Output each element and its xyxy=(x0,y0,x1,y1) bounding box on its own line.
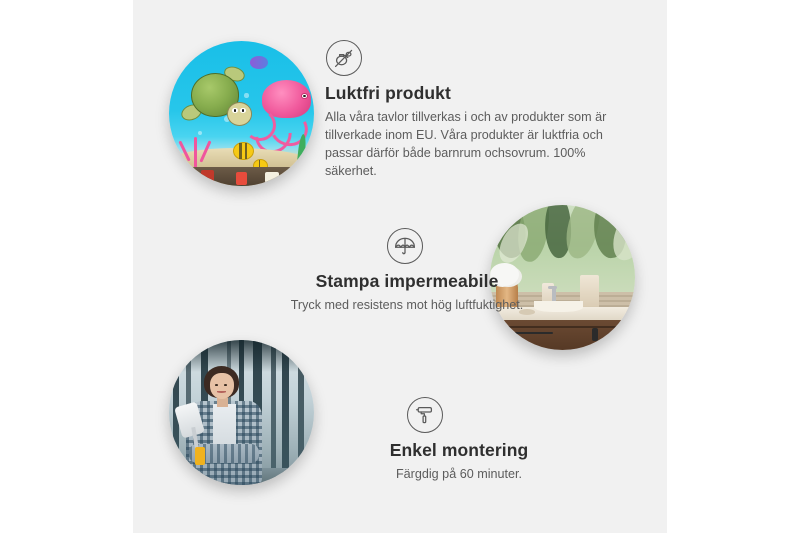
vanity-cabinet xyxy=(493,320,635,350)
paint-roller-icon xyxy=(407,397,443,433)
image-sea-scene[interactable] xyxy=(169,41,314,186)
yellow-fish xyxy=(233,142,254,160)
no-odour-icon xyxy=(326,40,362,76)
wreck-detail xyxy=(201,170,214,185)
feature-description: Tryck med resistens mot hög luftfuktighe… xyxy=(221,297,593,315)
icon-wrap xyxy=(325,397,593,433)
coral xyxy=(175,128,219,169)
woman-eye xyxy=(224,384,227,386)
icon-wrap xyxy=(221,228,593,264)
wreck-detail xyxy=(265,172,280,184)
octopus-eye xyxy=(301,93,308,99)
feature-waterproof: Stampa impermeabile Tryck med resistens … xyxy=(221,228,593,315)
umbrella-icon xyxy=(387,228,423,264)
turtle-eye xyxy=(240,108,246,114)
page-root: Luktfri produkt Alla våra tavlor tillver… xyxy=(0,0,800,533)
woman-eye xyxy=(215,384,218,386)
paint-roller-grip xyxy=(195,447,205,464)
feature-title: Enkel montering xyxy=(325,440,593,461)
cabinet-handle xyxy=(592,328,597,341)
bubble xyxy=(244,93,248,97)
icon-wrap xyxy=(325,40,625,76)
cabinet-handle xyxy=(514,332,553,333)
image-forest-scene[interactable] xyxy=(169,340,314,485)
wreck-detail xyxy=(236,172,248,185)
feature-odour-free: Luktfri produkt Alla våra tavlor tillver… xyxy=(325,40,625,181)
blue-fish xyxy=(250,56,267,69)
feature-description: Färgdig på 60 minuter. xyxy=(325,466,593,484)
turtle-eye xyxy=(232,108,238,114)
feature-description: Alla våra tavlor tillverkas i och av pro… xyxy=(325,109,617,181)
feature-easy-mounting: Enkel montering Färgdig på 60 minuter. xyxy=(325,397,593,484)
feature-title: Stampa impermeabile xyxy=(221,271,593,292)
woman-smile xyxy=(217,391,226,393)
content-panel: Luktfri produkt Alla våra tavlor tillver… xyxy=(133,0,667,533)
feature-title: Luktfri produkt xyxy=(325,83,625,104)
tree-canopy xyxy=(169,340,314,372)
turtle-head xyxy=(227,102,252,126)
